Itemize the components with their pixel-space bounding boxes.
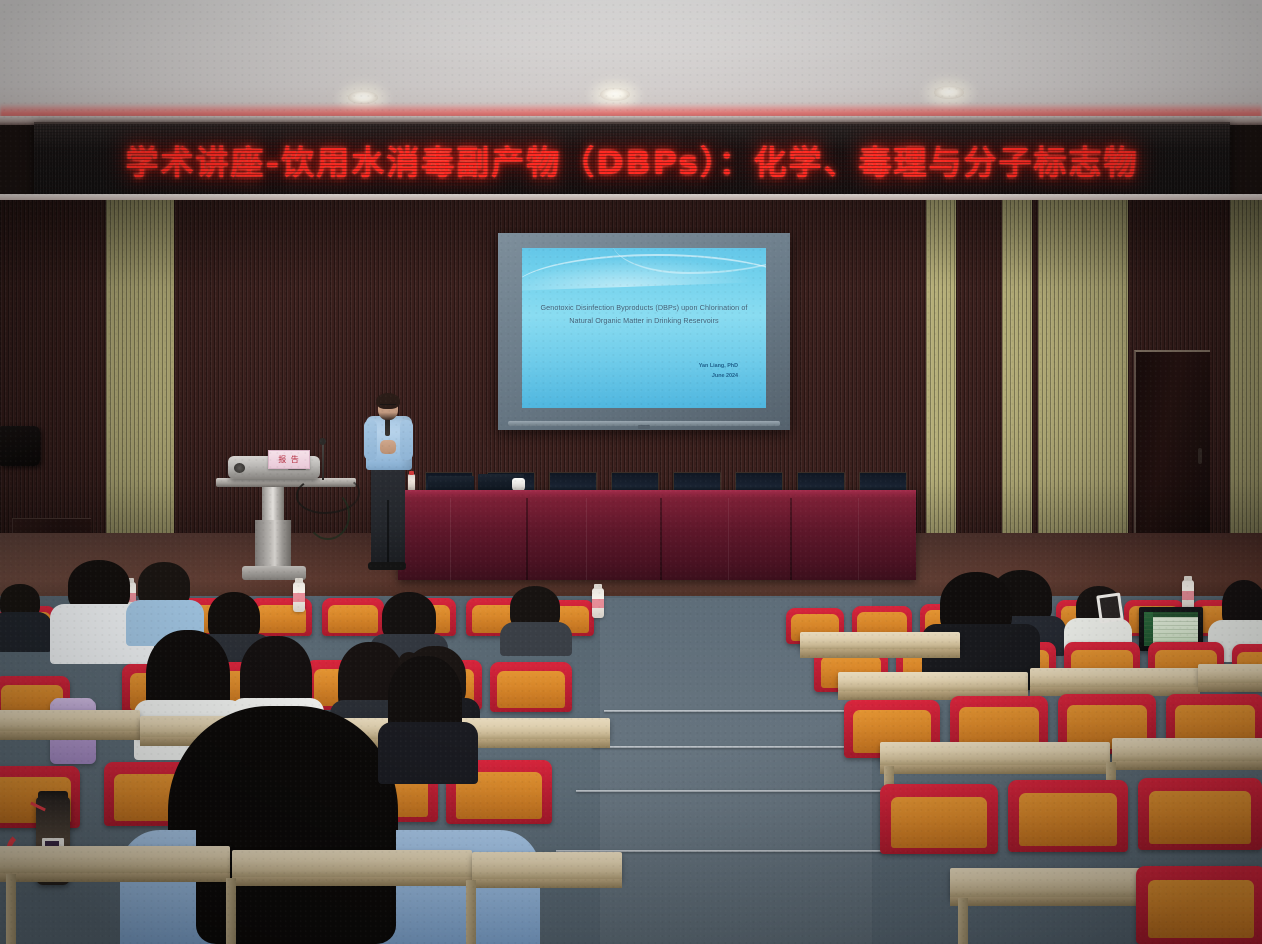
student-desk xyxy=(880,742,1110,766)
hair-clip xyxy=(1096,592,1124,623)
auditorium-seat[interactable] xyxy=(322,598,384,636)
slide-title: Genotoxic Disinfection Byproducts (DBPs)… xyxy=(536,302,752,327)
water-bottle xyxy=(293,582,305,612)
thermos-cap xyxy=(38,791,68,803)
slide-date: June 2024 xyxy=(699,371,738,381)
slide-author-name: Yan Liang, PhD xyxy=(699,361,738,371)
presenter-leg-split xyxy=(387,500,389,566)
presenter-arm xyxy=(364,420,377,460)
podium-sign-text: 报 告 xyxy=(269,451,309,468)
slide-author: Yan Liang, PhD June 2024 xyxy=(699,361,738,382)
student-desk xyxy=(800,632,960,650)
laptop-screen xyxy=(1144,612,1198,646)
head-table-top xyxy=(398,490,916,498)
student-desk xyxy=(1112,738,1262,762)
desk-leg xyxy=(226,878,236,944)
slide-surface: Genotoxic Disinfection Byproducts (DBPs)… xyxy=(522,248,766,408)
water-bottle xyxy=(408,474,415,491)
lecture-hall-photo: 学术讲座-饮用水消毒副产物（DBPs）：化学、毒理与分子标志物 Geno xyxy=(0,0,1262,944)
step-nosing xyxy=(604,710,868,712)
student-desk xyxy=(458,718,610,740)
presenter-glasses-icon xyxy=(380,404,396,409)
gooseneck-microphone xyxy=(322,442,324,480)
student-desk xyxy=(472,852,622,880)
ceiling-downlight xyxy=(600,88,630,101)
projection-screen: Genotoxic Disinfection Byproducts (DBPs)… xyxy=(498,233,790,430)
desk-leg xyxy=(958,898,968,944)
student-desk xyxy=(1030,668,1200,688)
water-bottle xyxy=(592,588,604,618)
auditorium-seat[interactable] xyxy=(1138,778,1262,850)
auditorium-seat[interactable] xyxy=(880,784,998,854)
presenter-arm xyxy=(400,420,413,460)
water-bottle xyxy=(1182,580,1194,610)
student-desk xyxy=(232,850,472,878)
cable-coil xyxy=(306,490,350,540)
head-table xyxy=(398,490,916,580)
presenter-hands xyxy=(380,440,396,454)
microphone-head-icon xyxy=(319,438,326,445)
led-banner-text: 学术讲座-饮用水消毒副产物（DBPs）：化学、毒理与分子标志物 xyxy=(34,136,1230,184)
student-desk xyxy=(0,846,230,874)
auditorium-seat[interactable] xyxy=(1136,866,1262,944)
podium-sign: 报 告 xyxy=(268,450,310,469)
step-nosing xyxy=(576,790,896,792)
step-nosing xyxy=(592,746,880,748)
cart-column-lower xyxy=(255,520,291,570)
desk-leg xyxy=(6,874,16,944)
student-desk xyxy=(0,710,140,732)
projector-lens-icon xyxy=(234,463,245,473)
ceiling-downlight xyxy=(934,86,964,99)
presenter-shoes xyxy=(368,562,406,570)
auditorium-seat[interactable] xyxy=(1008,780,1128,852)
student-desk xyxy=(1198,664,1262,684)
student-desk xyxy=(838,672,1028,692)
auditorium-seat[interactable] xyxy=(490,662,572,712)
screen-pull-tab xyxy=(638,425,650,429)
led-banner: 学术讲座-饮用水消毒副产物（DBPs）：化学、毒理与分子标志物 xyxy=(34,122,1230,199)
desk-leg xyxy=(466,880,476,944)
